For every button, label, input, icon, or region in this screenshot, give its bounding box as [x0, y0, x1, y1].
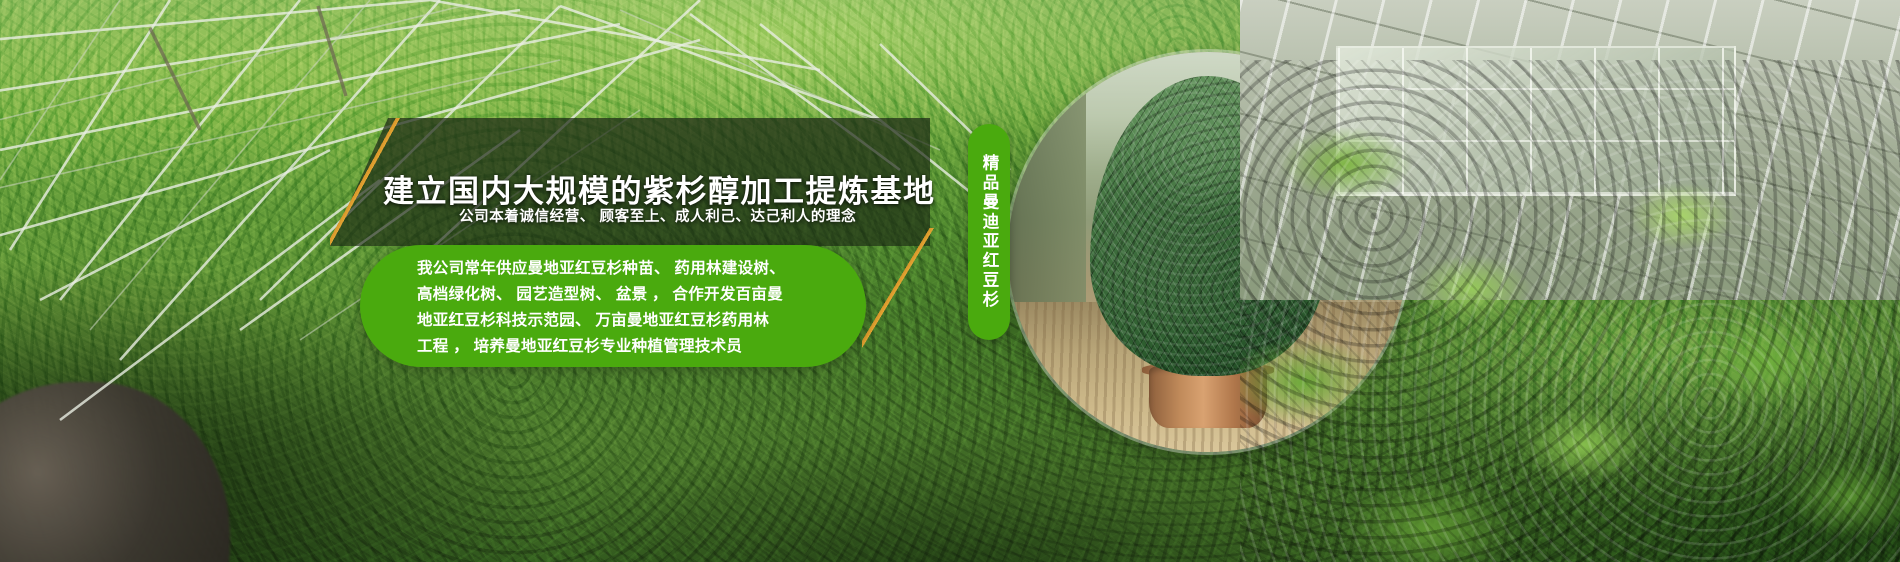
vertical-label-text: 精品曼迪亚红豆杉	[968, 124, 1010, 340]
grapevine-foliage	[1240, 60, 1900, 562]
callout-line: 我公司常年供应曼地亚红豆杉种苗、 药用林建设树、	[417, 256, 837, 282]
callout-line: 高档绿化树、 园艺造型树、 盆景 ， 合作开发百亩曼	[417, 282, 837, 308]
panel-gold-edge-right	[862, 228, 934, 348]
callout-text-block: 我公司常年供应曼地亚红豆杉种苗、 药用林建设树、 高档绿化树、 园艺造型树、 盆…	[417, 256, 837, 360]
callout-line: 工程 ， 培养曼地亚红豆杉专业种植管理技术员	[417, 334, 837, 360]
grapevine-leaf-texture	[1240, 60, 1900, 562]
callout-line: 地亚红豆杉科技示范园、 万亩曼地亚红豆杉药用林	[417, 308, 837, 334]
promotional-banner: 建立国内大规模的紫杉醇加工提炼基地 公司本着诚信经营、 顾客至上、成人利己、达己…	[0, 0, 1900, 562]
greenhouse-scene	[1240, 0, 1900, 562]
page-subtitle: 公司本着诚信经营、 顾客至上、成人利己、达己利人的理念	[459, 205, 856, 226]
